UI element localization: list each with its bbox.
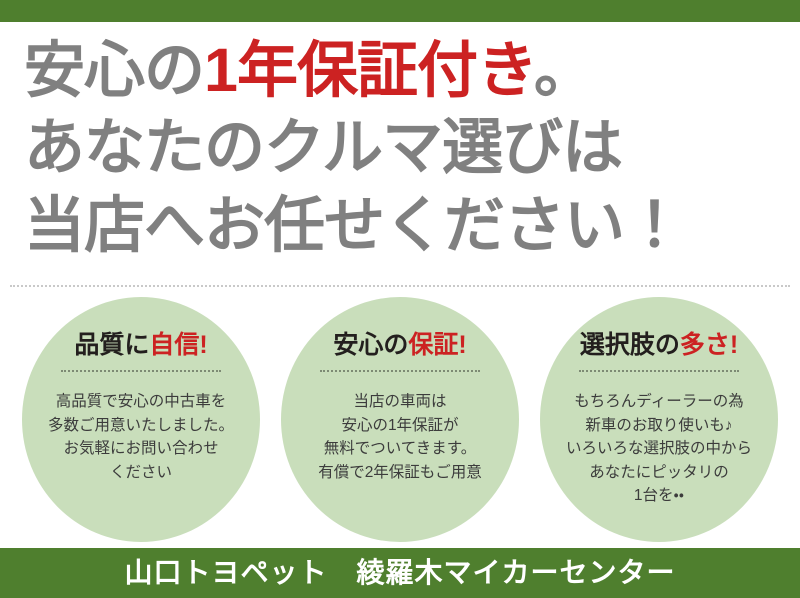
panel-title-warranty-plain: 安心の xyxy=(333,331,408,359)
panel-rule-quality xyxy=(61,370,221,372)
panel-title-quality-accent: 自信! xyxy=(149,331,207,359)
headline-line-1-prefix: 安心の xyxy=(24,36,204,104)
panel-body-quality: 高品質で安心の中古車を 多数ご用意いたしました。 お気軽にお問い合わせ ください xyxy=(48,390,234,484)
panel-title-selection-plain: 選択肢の xyxy=(580,331,680,359)
feature-panel-quality: 品質に自信! 高品質で安心の中古車を 多数ご用意いたしました。 お気軽にお問い合… xyxy=(22,297,260,542)
panel-rule-selection xyxy=(579,370,739,372)
panel-title-warranty-accent: 保証! xyxy=(408,331,466,359)
shop-name: 山口トヨペット 綾羅木マイカーセンター xyxy=(124,559,675,587)
panel-body-warranty: 当店の車両は 安心の1年保証が 無料でついてきます。 有償で2年保証もご用意 xyxy=(318,390,482,484)
feature-panels: 品質に自信! 高品質で安心の中古車を 多数ご用意いたしました。 お気軽にお問い合… xyxy=(0,297,800,542)
panel-title-selection: 選択肢の多さ! xyxy=(580,333,738,358)
feature-panel-selection: 選択肢の多さ! もちろんディーラーの為 新車のお取り使いも♪ いろいろな選択肢の… xyxy=(540,297,778,542)
panel-title-quality: 品質に自信! xyxy=(74,333,207,358)
top-accent-bar xyxy=(0,0,800,22)
panel-title-warranty: 安心の保証! xyxy=(333,333,466,358)
headline-line-2: あなたのクルマ選びは xyxy=(24,109,800,186)
panel-title-selection-accent: 多さ! xyxy=(680,331,738,359)
headline-line-1-suffix: 。 xyxy=(534,36,594,104)
advertisement-banner: 安心の1年保証付き。 あなたのクルマ選びは 当店へお任せください！ 品質に自信!… xyxy=(0,0,800,598)
section-divider xyxy=(10,285,790,287)
headline-line-3: 当店へお任せください！ xyxy=(24,187,800,264)
headline-line-1-accent: 1年保証付き xyxy=(204,36,534,104)
headline-block: 安心の1年保証付き。 あなたのクルマ選びは 当店へお任せください！ xyxy=(0,22,800,274)
panel-title-quality-plain: 品質に xyxy=(74,331,149,359)
panel-body-selection: もちろんディーラーの為 新車のお取り使いも♪ いろいろな選択肢の中から あなたに… xyxy=(566,390,752,508)
feature-panel-warranty: 安心の保証! 当店の車両は 安心の1年保証が 無料でついてきます。 有償で2年保… xyxy=(281,297,519,542)
headline-line-1: 安心の1年保証付き。 xyxy=(24,32,800,109)
panel-rule-warranty xyxy=(320,370,480,372)
footer-bar: 山口トヨペット 綾羅木マイカーセンター xyxy=(0,548,800,598)
